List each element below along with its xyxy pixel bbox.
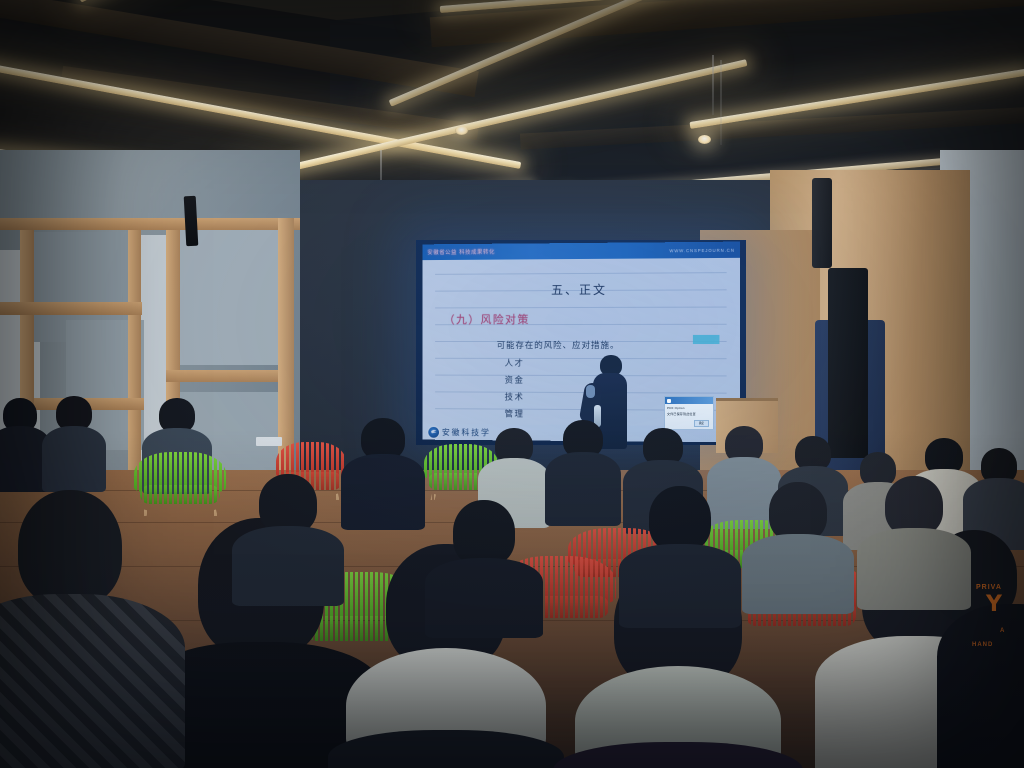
- audience-person: [972, 448, 1024, 542]
- jacket-text-bottom: HAND: [972, 642, 993, 648]
- speaker-column-right: [828, 268, 868, 458]
- shelf-cell: [172, 230, 292, 365]
- slide-lead-text: 可能存在的风险、应对措施。: [497, 339, 620, 351]
- audience-person: [352, 418, 414, 518]
- slide-highlight-box: [693, 335, 720, 344]
- audience-person: [444, 500, 524, 620]
- slide-banner-title: 安徽省公益 科技成果转化: [427, 248, 495, 256]
- ceiling-spotlight: [698, 135, 711, 144]
- side-monitor: PDF Option 文件已保存到此位置 确定: [664, 396, 714, 430]
- dialog-app-icon: [667, 399, 671, 403]
- wall-speaker-left: [184, 196, 199, 247]
- slide-bullet: 技术: [505, 391, 525, 403]
- audience-person: [48, 396, 100, 488]
- presenter-hand: [586, 385, 595, 398]
- audience-person: [0, 398, 46, 488]
- shelf-board: [166, 370, 294, 382]
- audience-person: [760, 482, 836, 598]
- jacket-text-top: PRIVA: [976, 584, 1002, 591]
- chair[interactable]: [134, 452, 226, 516]
- slide-banner-url: WWW.CNSPEJOURN.CN: [669, 247, 734, 253]
- pendant-cable: [712, 55, 714, 115]
- slide-section-heading: （九）风险对策: [444, 311, 530, 327]
- slide-footer-org: 安徽科技学: [442, 426, 491, 437]
- slide-bullet: 资金: [505, 374, 525, 386]
- slide-title: 五、正文: [422, 280, 739, 298]
- audience-person-foreground: [0, 490, 140, 768]
- jacket-letter: Y: [986, 592, 1002, 617]
- ceiling-spotlight: [455, 126, 468, 135]
- wall-speaker-right: [812, 178, 832, 268]
- shelf-board: [0, 218, 300, 230]
- audience-person: [640, 486, 720, 606]
- pendant-cable: [720, 60, 722, 145]
- audience-person: [876, 476, 952, 594]
- shelf-board: [0, 302, 142, 315]
- dialog-title-bar: [665, 397, 713, 404]
- jacket-text-mid: A: [1000, 628, 1005, 634]
- slide-bullet: 管理: [505, 408, 525, 420]
- slide-bullet: 人才: [505, 357, 525, 369]
- audience-person: [250, 474, 326, 590]
- dialog-body: 文件已保存到此位置: [665, 412, 713, 418]
- audience-person: [554, 420, 612, 516]
- dialog-ok-button[interactable]: 确定: [694, 420, 709, 427]
- dialog-title: PDF Option: [665, 404, 713, 412]
- lecture-hall-photo: 安徽省公益 科技成果转化 WWW.CNSPEJOURN.CN 五、正文 （九）风…: [0, 0, 1024, 768]
- university-logo-icon: [428, 426, 439, 437]
